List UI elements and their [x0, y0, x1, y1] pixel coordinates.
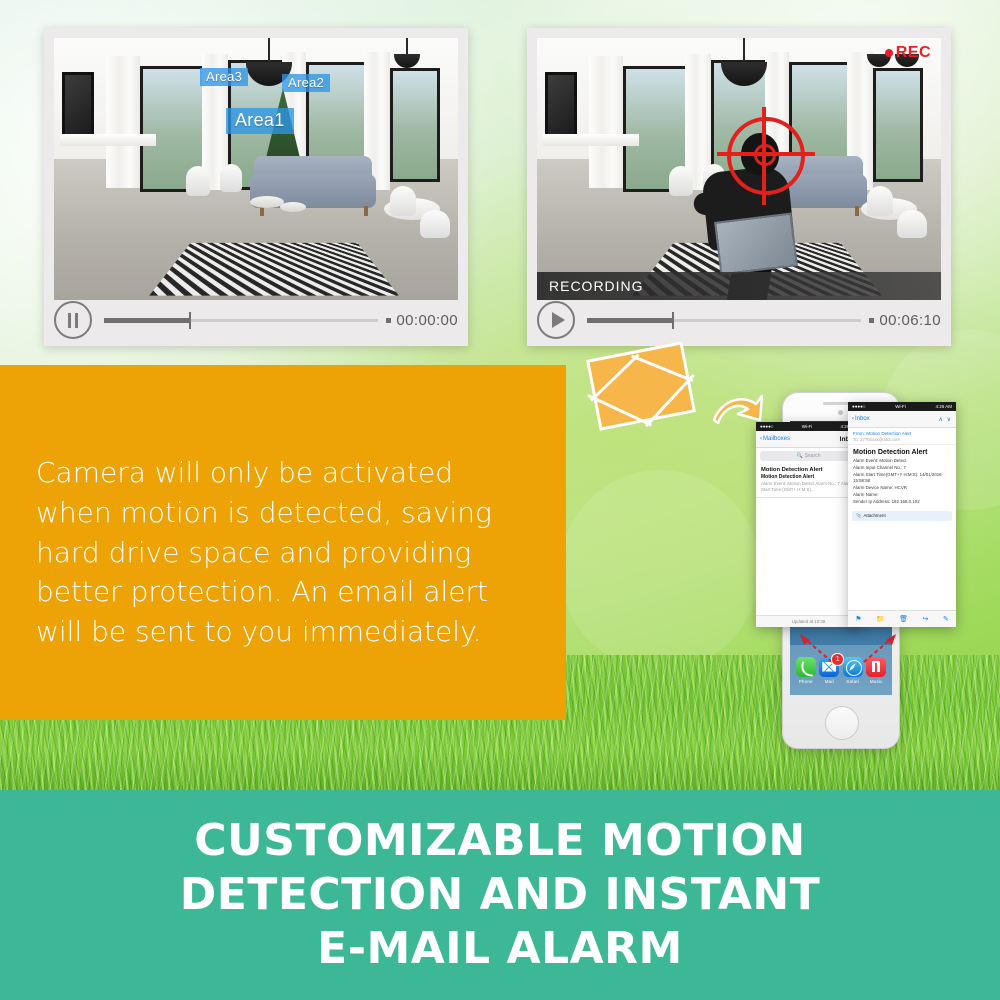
- mail-preview: Alarm Event: Motion Detect Alarm No.: 7 …: [761, 481, 856, 493]
- search-icon: 🔍: [796, 453, 802, 459]
- status-signal: ●●●●○: [852, 404, 866, 409]
- mail-subject: Motion Detection Alert: [761, 474, 856, 480]
- mail-from-line: From: Motion Detection Alert: [853, 431, 951, 436]
- rec-indicator: REC: [885, 44, 931, 62]
- alarm-line: Alarm Name:: [848, 492, 956, 499]
- front-camera-icon: [838, 410, 843, 415]
- reply-icon[interactable]: ↪: [923, 615, 929, 623]
- alarm-line: Sender Ip Address: 192.168.0.102: [848, 499, 956, 506]
- status-carrier: Wi-Fi: [802, 424, 813, 429]
- flag-icon[interactable]: ⚑: [855, 615, 861, 623]
- paperclip-icon: 📎: [856, 513, 861, 519]
- detail-nav-bar: ‹ Inbox ∧ ∨: [848, 411, 956, 428]
- search-placeholder: Search: [805, 453, 821, 459]
- ios-status-bar: ●●●●○ Wi-Fi 4:26 AM: [756, 422, 861, 431]
- inbox-nav-bar: ‹ Mailboxes Inbox: [756, 431, 861, 448]
- progress-fill: [587, 318, 672, 323]
- timecode-left-value: 00:00:00: [396, 312, 458, 329]
- rec-label: REC: [896, 44, 931, 62]
- recording-label: RECORDING: [549, 278, 644, 294]
- bokeh-circle: [560, 470, 760, 670]
- timecode-left: 00:00:00: [386, 312, 458, 329]
- attachment-row[interactable]: 📎 Attachment: [852, 511, 952, 521]
- mail-detail-screenshot: ●●●●○ Wi-Fi 4:26 AM ‹ Inbox ∧ ∨ From: Mo…: [848, 402, 956, 627]
- dock-app-mail[interactable]: 1 Mail: [819, 657, 839, 684]
- face-detection-target-icon: [727, 117, 805, 195]
- pause-icon[interactable]: [54, 301, 92, 339]
- recording-status-bar: RECORDING: [537, 272, 941, 300]
- status-signal: ●●●●○: [760, 424, 774, 429]
- bottom-banner: CUSTOMIZABLE MOTION DETECTION AND INSTAN…: [0, 790, 1000, 1000]
- progress-knob[interactable]: [672, 312, 674, 329]
- chevron-left-icon: ‹: [760, 436, 762, 442]
- mail-action-toolbar: ⚑ 📁 🗑 ↪ ✎: [848, 610, 956, 627]
- progress-track-left[interactable]: [104, 319, 378, 322]
- alarm-line: Alarm Input Channel No.: 7: [848, 465, 956, 472]
- room-scene: [54, 38, 458, 300]
- play-icon[interactable]: [537, 301, 575, 339]
- progress-track-right[interactable]: [587, 319, 861, 322]
- video-screen-left: Area3 Area2 Area1: [54, 38, 458, 300]
- back-label: Mailboxes: [763, 436, 790, 442]
- banner-line-1: CUSTOMIZABLE MOTION: [194, 815, 806, 867]
- video-screen-right: REC RECORDING: [537, 38, 941, 300]
- compose-icon[interactable]: ✎: [943, 615, 949, 623]
- player-controls-right: 00:06:10: [537, 302, 941, 338]
- alarm-line: 15:58:58: [848, 478, 956, 485]
- status-carrier: Wi-Fi: [895, 404, 906, 409]
- video-panel-right: REC RECORDING 00:06:10: [527, 28, 951, 346]
- mail-inbox-screenshot: ●●●●○ Wi-Fi 4:26 AM ‹ Mailboxes Inbox 🔍 …: [756, 422, 861, 627]
- rec-dot-icon: [885, 49, 893, 57]
- alarm-line: Alarm Device Name: HCVR: [848, 485, 956, 492]
- chevron-left-icon: ‹: [852, 416, 854, 422]
- area-badge-3[interactable]: Area3: [200, 68, 248, 86]
- status-time: 4:26 AM: [935, 404, 952, 409]
- banner-line-3: E-MAIL ALARM: [317, 923, 683, 975]
- mail-badge: 1: [831, 653, 844, 666]
- dock-label-phone: Phone: [796, 679, 816, 684]
- dock-label-music: Music: [866, 679, 886, 684]
- progress-fill: [104, 318, 189, 323]
- timecode-marker-icon: [869, 318, 874, 323]
- feature-copy-block: Camera will only be activated when motio…: [0, 365, 566, 720]
- dock-label-mail: Mail: [819, 679, 839, 684]
- player-controls-left: 00:00:00: [54, 302, 458, 338]
- timecode-right-value: 00:06:10: [879, 312, 941, 329]
- trash-icon[interactable]: 🗑: [899, 615, 908, 623]
- attachment-label: Attachment: [863, 513, 885, 518]
- video-panel-left: Area3 Area2 Area1 00:00:00: [44, 28, 468, 346]
- alarm-line: Alarm Start Time(GMT+Y H:M:S): 14/01/201…: [848, 472, 956, 479]
- timecode-right: 00:06:10: [869, 312, 941, 329]
- mail-to-line: To: 2770xxxx@163.com: [853, 437, 951, 442]
- mail-sender: Motion Detection Alert: [761, 467, 856, 473]
- dock-label-safari: Safari: [843, 679, 863, 684]
- back-to-inbox-button[interactable]: ‹ Inbox: [852, 416, 870, 422]
- ios-status-bar: ●●●●○ Wi-Fi 4:26 AM: [848, 402, 956, 411]
- feature-copy-text: Camera will only be activated when motio…: [36, 453, 536, 652]
- progress-knob[interactable]: [189, 312, 191, 329]
- timecode-marker-icon: [386, 318, 391, 323]
- area-badge-2[interactable]: Area2: [282, 74, 330, 92]
- mail-header: From: Motion Detection Alert To: 2770xxx…: [848, 428, 956, 445]
- home-button[interactable]: [825, 706, 859, 740]
- back-to-mailboxes-button[interactable]: ‹ Mailboxes: [760, 436, 790, 442]
- area-badge-1[interactable]: Area1: [226, 108, 294, 134]
- inbox-footer-status: Updated at 10:08: [756, 615, 861, 627]
- search-input[interactable]: 🔍 Search: [760, 451, 857, 461]
- banner-line-2: DETECTION AND INSTANT: [180, 869, 820, 921]
- message-nav-arrows[interactable]: ∧ ∨: [939, 416, 952, 423]
- list-item[interactable]: Motion Detection Alert Motion Detection …: [756, 464, 861, 498]
- alarm-line: Alarm Event: Motion Detect: [848, 458, 956, 465]
- back-label: Inbox: [855, 416, 870, 422]
- mail-detail-title: Motion Detection Alert: [848, 445, 956, 458]
- folder-icon[interactable]: 📁: [876, 615, 885, 623]
